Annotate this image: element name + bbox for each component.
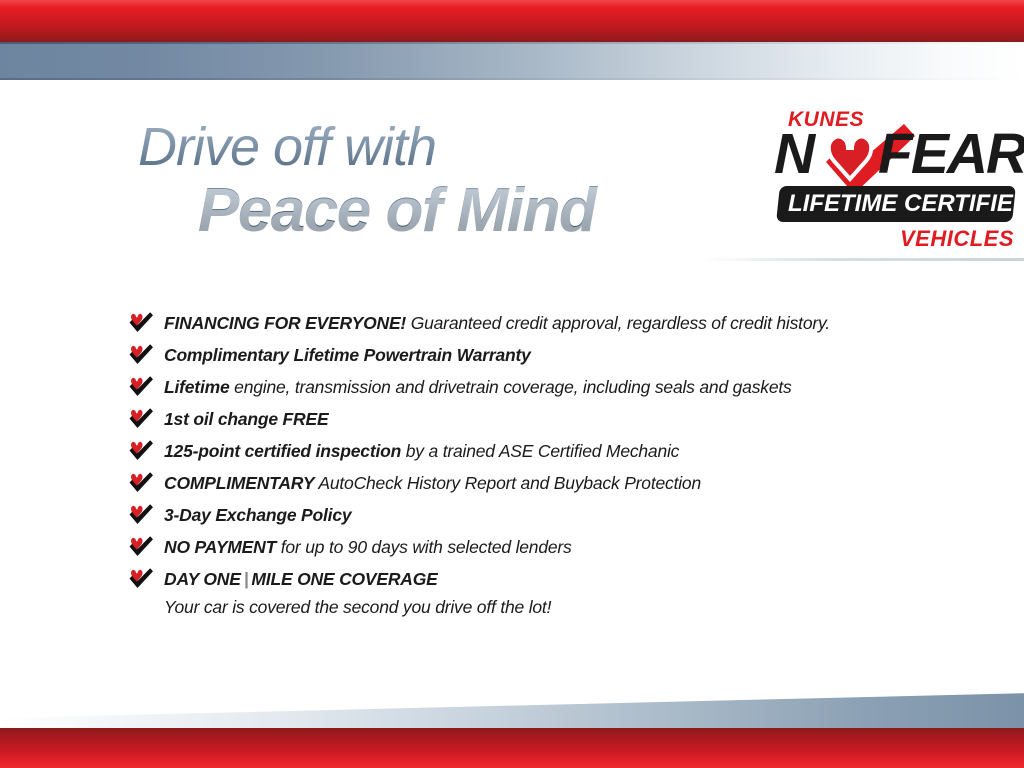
headline-divider — [700, 258, 1024, 261]
heart-check-icon — [128, 311, 154, 333]
logo-main-wordmark: N FEAR — [770, 128, 1014, 188]
feature-regular-text: AutoCheck History Report and Buyback Pro… — [314, 473, 701, 493]
top-gray-gradient-band — [0, 42, 1024, 80]
feature-text: Lifetime engine, transmission and drivet… — [164, 372, 792, 403]
feature-separator: | — [241, 569, 252, 589]
heart-check-icon — [128, 407, 154, 429]
heart-check-icon — [128, 503, 154, 525]
feature-text: NO PAYMENT for up to 90 days with select… — [164, 532, 572, 563]
feature-text: 125-point certified inspection by a trai… — [164, 436, 679, 467]
heart-check-icon — [128, 535, 154, 557]
top-red-band — [0, 0, 1024, 42]
heart-check-icon — [128, 343, 154, 365]
bottom-banner — [0, 690, 1024, 768]
feature-regular-text: by a trained ASE Certified Mechanic — [401, 441, 679, 461]
heart-check-icon — [128, 375, 154, 397]
logo-vehicles-text: VEHICLES — [886, 226, 1014, 252]
feature-list: FINANCING FOR EVERYONE! Guaranteed credi… — [128, 308, 928, 620]
feature-regular-text: for up to 90 days with selected lenders — [276, 537, 572, 557]
feature-item: Lifetime engine, transmission and drivet… — [128, 372, 928, 404]
top-gray-top-edge — [0, 42, 1024, 44]
feature-bold-text: NO PAYMENT — [164, 537, 276, 557]
feature-regular-text: Guaranteed credit approval, regardless o… — [406, 313, 830, 333]
headline-line-2: Peace of Mind — [198, 178, 758, 243]
feature-text: 1st oil change FREE — [164, 404, 328, 435]
bottom-gray-slanted-band — [0, 690, 1024, 730]
feature-bold-text: 3-Day Exchange Policy — [164, 505, 351, 525]
feature-bold-text-2: MILE ONE COVERAGE — [251, 569, 437, 589]
feature-text: 3-Day Exchange Policy — [164, 500, 351, 531]
feature-item: 3-Day Exchange Policy — [128, 500, 928, 532]
logo-lifetime-certified-text: LIFETIME CERTIFIED — [788, 190, 1014, 218]
feature-bold-text: COMPLIMENTARY — [164, 473, 314, 493]
feature-item: COMPLIMENTARY AutoCheck History Report a… — [128, 468, 928, 500]
feature-text: DAY ONE|MILE ONE COVERAGE — [164, 564, 438, 595]
feature-subline: Your car is covered the second you drive… — [164, 594, 928, 620]
feature-bold-text: 125-point certified inspection — [164, 441, 401, 461]
heart-check-icon — [128, 471, 154, 493]
feature-bold-text: FINANCING FOR EVERYONE! — [164, 313, 406, 333]
logo-word-fear: FEAR — [878, 126, 1024, 183]
feature-regular-text: engine, transmission and drivetrain cove… — [230, 377, 792, 397]
feature-item: 1st oil change FREE — [128, 404, 928, 436]
top-red-highlight — [0, 0, 1024, 8]
kunes-no-fear-logo: KUNES N FEAR LIFETIME CERTIFIED VEHICLES — [770, 108, 1014, 253]
feature-text: Complimentary Lifetime Powertrain Warran… — [164, 340, 531, 371]
feature-item: Complimentary Lifetime Powertrain Warran… — [128, 340, 928, 372]
feature-bold-text: DAY ONE — [164, 569, 241, 589]
top-gray-bottom-edge — [0, 78, 1024, 80]
headline-block: Drive off with Peace of Mind — [138, 120, 758, 243]
feature-bold-text: Lifetime — [164, 377, 230, 397]
headline-line-1: Drive off with — [138, 120, 758, 174]
bottom-red-band — [0, 728, 1024, 768]
feature-text: COMPLIMENTARY AutoCheck History Report a… — [164, 468, 701, 499]
heart-check-icon — [128, 439, 154, 461]
feature-item: NO PAYMENT for up to 90 days with select… — [128, 532, 928, 564]
feature-item: DAY ONE|MILE ONE COVERAGE — [128, 564, 928, 596]
bottom-gray-wrapper — [0, 690, 1024, 730]
feature-text: FINANCING FOR EVERYONE! Guaranteed credi… — [164, 308, 830, 339]
logo-letter-n: N — [774, 126, 813, 183]
feature-item: FINANCING FOR EVERYONE! Guaranteed credi… — [128, 308, 928, 340]
feature-bold-text: 1st oil change FREE — [164, 409, 328, 429]
feature-item: 125-point certified inspection by a trai… — [128, 436, 928, 468]
feature-bold-text: Complimentary Lifetime Powertrain Warran… — [164, 345, 531, 365]
heart-check-icon — [128, 567, 154, 589]
top-banner — [0, 0, 1024, 80]
